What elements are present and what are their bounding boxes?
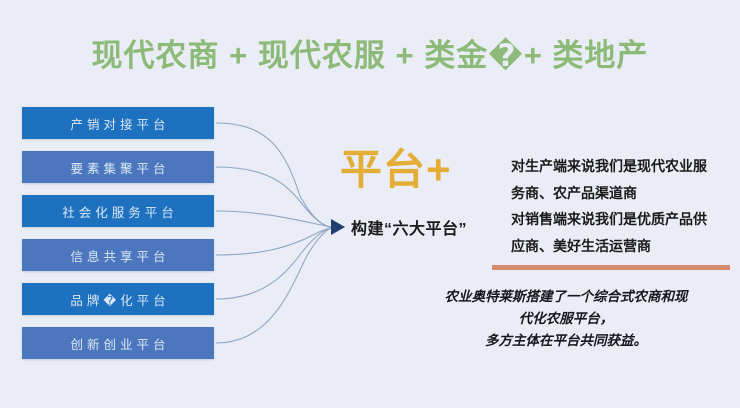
platform-box-label: 品牌�化平台 xyxy=(66,290,169,309)
connector-curve-6 xyxy=(216,228,331,343)
platform-box-1[interactable]: 产销对接平台 xyxy=(22,107,214,139)
connector-curve-4 xyxy=(216,228,331,255)
platform-box-label: 要素集聚平台 xyxy=(66,158,169,177)
horizontal-divider xyxy=(492,265,730,270)
platform-list: 产销对接平台 要素集聚平台 社会化服务平台 信息共享平台 品牌�化平台 创新创业… xyxy=(22,107,214,371)
platform-box-4[interactable]: 信息共享平台 xyxy=(22,239,214,271)
platform-box-6[interactable]: 创新创业平台 xyxy=(22,327,214,359)
description-block: 对生产端来说我们是现代农业服 务商、农产品渠道商 对销售端来说我们是优质产品供 … xyxy=(511,153,736,259)
platform-box-5[interactable]: 品牌�化平台 xyxy=(22,283,214,315)
page-title: 现代农商 + 现代农服 + 类金�+ 类地产 xyxy=(0,36,740,76)
platform-box-2[interactable]: 要素集聚平台 xyxy=(22,151,214,183)
platform-box-label: 产销对接平台 xyxy=(66,114,169,133)
description-line: 务商、农产品渠道商 xyxy=(511,180,736,207)
summary-line: 代化农服平台， xyxy=(400,308,732,330)
platform-box-label: 社会化服务平台 xyxy=(58,202,178,221)
summary-block: 农业奥特莱斯搭建了一个综合式农商和现 代化农服平台， 多方主体在平台共同获益。 xyxy=(400,286,732,352)
slide-canvas: 现代农商 + 现代农服 + 类金�+ 类地产 产销对接平台 要素集聚平台 社会化… xyxy=(0,0,740,408)
connector-curve-5 xyxy=(216,228,331,299)
platform-plus-title: 平台+ xyxy=(340,144,452,196)
connector-curve-3 xyxy=(216,211,331,227)
right-triangle-arrow-icon xyxy=(331,219,345,235)
summary-line: 多方主体在平台共同获益。 xyxy=(400,330,732,352)
summary-line: 农业奥特莱斯搭建了一个综合式农商和现 xyxy=(400,286,732,308)
connector-curve-2 xyxy=(216,167,331,227)
center-headline-block: 平台+ xyxy=(340,144,452,196)
description-line: 对销售端来说我们是优质产品供 xyxy=(511,206,736,233)
description-line: 应商、美好生活运营商 xyxy=(511,233,736,260)
build-caption-label: 构建“六大平台” xyxy=(351,215,467,239)
platform-box-label: 创新创业平台 xyxy=(66,334,169,353)
description-line: 对生产端来说我们是现代农业服 xyxy=(511,153,736,180)
platform-box-3[interactable]: 社会化服务平台 xyxy=(22,195,214,227)
platform-box-label: 信息共享平台 xyxy=(66,246,169,265)
connector-curve-1 xyxy=(216,123,331,227)
build-caption-row: 构建“六大平台” xyxy=(331,215,467,239)
